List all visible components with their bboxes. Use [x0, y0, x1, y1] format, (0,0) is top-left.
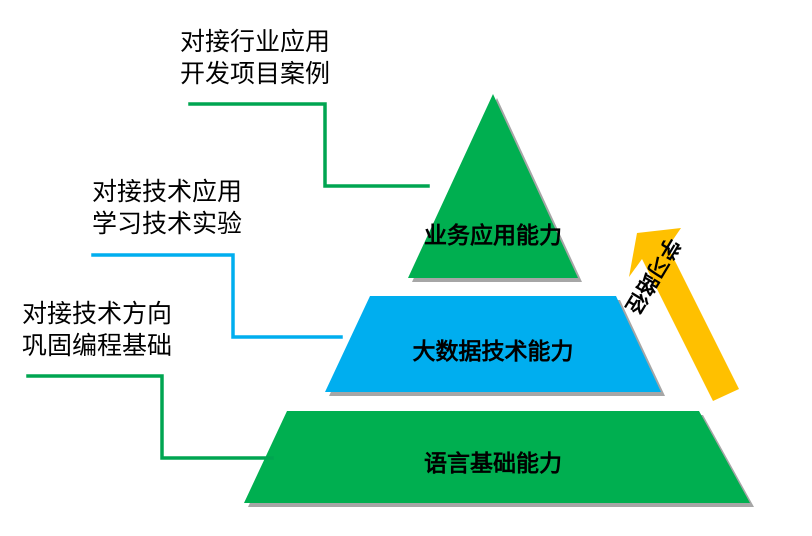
annotation-middle-line2: 学习技术实验: [92, 208, 242, 240]
diagram-canvas: 对接行业应用 开发项目案例 对接技术应用 学习技术实验 对接技术方向 巩固编程基…: [0, 0, 812, 536]
connector-line-bottom: [28, 376, 272, 458]
tier-top-shape[interactable]: [408, 94, 578, 278]
tier-label-bigdata-technology: 大数据技术能力: [397, 332, 589, 366]
annotation-middle: 对接技术应用 学习技术实验: [92, 176, 242, 240]
annotation-middle-line1: 对接技术应用: [92, 176, 242, 208]
annotation-bottom: 对接技术方向 巩固编程基础: [22, 298, 172, 362]
annotation-top-line2: 开发项目案例: [180, 58, 330, 90]
annotation-top: 对接行业应用 开发项目案例: [180, 26, 330, 90]
annotation-bottom-line2: 巩固编程基础: [22, 330, 172, 362]
tier-label-business-application: 业务应用能力: [397, 216, 589, 250]
connector-line-top: [190, 104, 428, 186]
tier-label-language-foundation: 语言基础能力: [397, 444, 589, 478]
annotation-bottom-line1: 对接技术方向: [22, 298, 172, 330]
annotation-top-line1: 对接行业应用: [180, 26, 330, 58]
